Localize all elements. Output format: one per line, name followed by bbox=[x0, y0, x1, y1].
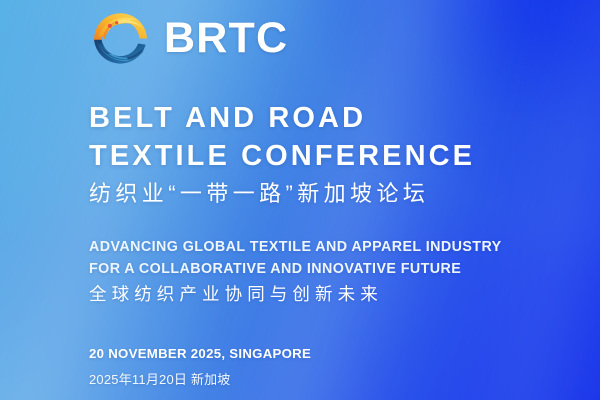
theme-english-line-2: FOR A COLLABORATIVE AND INNOVATIVE FUTUR… bbox=[89, 259, 502, 281]
brand-lockup: BRTC bbox=[89, 7, 288, 70]
theme-english: ADVANCING GLOBAL TEXTILE AND APPAREL IND… bbox=[89, 237, 502, 280]
theme-block: ADVANCING GLOBAL TEXTILE AND APPAREL IND… bbox=[89, 237, 502, 306]
brtc-globe-swirl-logo-icon bbox=[89, 7, 152, 70]
conference-poster: BRTC BELT AND ROAD TEXTILE CONFERENCE 纺织… bbox=[0, 0, 600, 400]
date-venue-english: 20 NOVEMBER 2025, SINGAPORE bbox=[89, 344, 311, 364]
page-title: BELT AND ROAD TEXTILE CONFERENCE bbox=[89, 100, 475, 176]
headline-chinese: 纺织业“一带一路”新加坡论坛 bbox=[89, 180, 429, 208]
headline-line-2: TEXTILE CONFERENCE bbox=[89, 138, 475, 176]
brand-wordmark: BRTC bbox=[164, 17, 288, 60]
poster-content: BRTC BELT AND ROAD TEXTILE CONFERENCE 纺织… bbox=[0, 0, 600, 400]
theme-english-line-1: ADVANCING GLOBAL TEXTILE AND APPAREL IND… bbox=[89, 237, 502, 259]
date-venue-block: 20 NOVEMBER 2025, SINGAPORE 2025年11月20日 … bbox=[89, 344, 311, 390]
headline-line-1: BELT AND ROAD bbox=[89, 100, 475, 138]
date-venue-chinese: 2025年11月20日 新加坡 bbox=[89, 371, 311, 390]
theme-chinese: 全球纺织产业协同与创新未来 bbox=[89, 283, 502, 306]
